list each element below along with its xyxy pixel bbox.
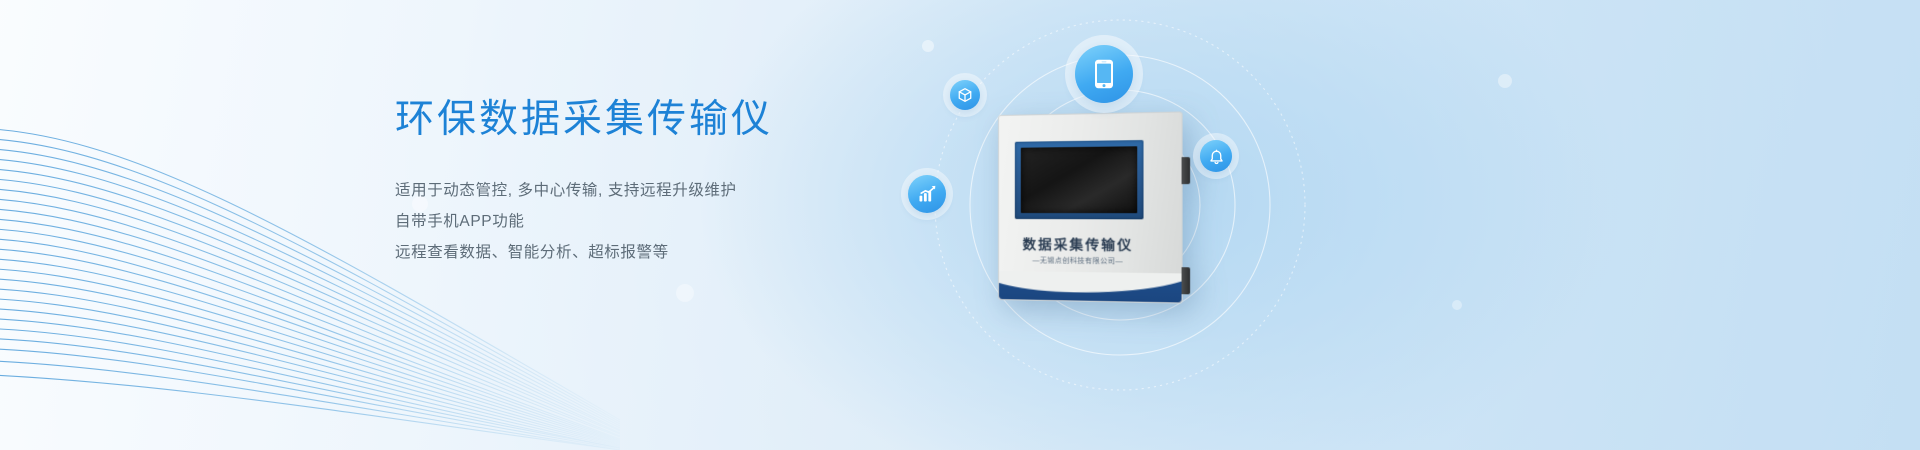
bokeh-dot <box>676 284 694 302</box>
cube-icon[interactable] <box>950 80 980 110</box>
device-photo: 数据采集传输仪 —无锡点创科技有限公司— <box>998 111 1183 303</box>
device-side-connector-top <box>1182 157 1191 184</box>
device-company-label: —无锡点创科技有限公司— <box>998 255 1159 267</box>
page-title: 环保数据采集传输仪 <box>395 96 915 145</box>
phone-icon[interactable] <box>1075 45 1133 103</box>
hero-subtitle-line-2: 自带手机APP功能 <box>395 206 915 237</box>
concentric-arc-rings <box>860 0 1560 450</box>
product-hero-banner: 环保数据采集传输仪 适用于动态管控, 多中心传输, 支持远程升级维护 自带手机A… <box>0 0 1920 450</box>
device-screen-bezel <box>1015 140 1144 219</box>
hero-subtitle-line-1: 适用于动态管控, 多中心传输, 支持远程升级维护 <box>395 175 915 206</box>
hero-copy: 环保数据采集传输仪 适用于动态管控, 多中心传输, 支持远程升级维护 自带手机A… <box>395 96 915 268</box>
device-footer-band <box>999 271 1182 302</box>
hero-subtitle-line-3: 远程查看数据、智能分析、超标报警等 <box>395 237 915 268</box>
chart-icon[interactable] <box>908 175 946 213</box>
alarm-icon[interactable] <box>1200 140 1232 172</box>
device-side-connector-bottom <box>1182 267 1191 294</box>
device-screen <box>1021 146 1137 213</box>
product-graphic-stage: 数据采集传输仪 —无锡点创科技有限公司— <box>860 0 1560 450</box>
device-brand-label: 数据采集传输仪 <box>998 233 1159 255</box>
hero-subtitle-list: 适用于动态管控, 多中心传输, 支持远程升级维护 自带手机APP功能 远程查看数… <box>395 175 915 268</box>
